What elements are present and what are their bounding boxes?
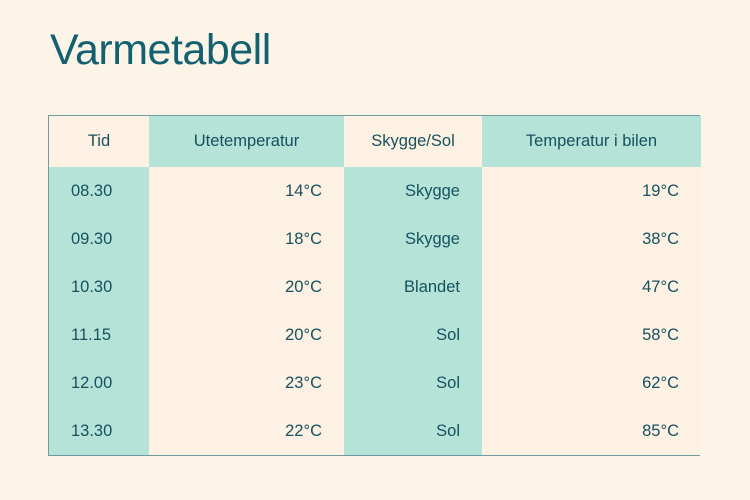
cell-utetemperatur: 20°C: [149, 311, 344, 359]
table-row: 13.3022°CSol85°C: [49, 407, 701, 455]
column-header-temperatur-i-bilen: Temperatur i bilen: [482, 116, 701, 167]
cell-skygge-sol: Sol: [344, 359, 482, 407]
cell-skygge-sol: Skygge: [344, 167, 482, 215]
cell-temperatur-i-bilen: 85°C: [482, 407, 701, 455]
column-header-utetemperatur: Utetemperatur: [149, 116, 344, 167]
table-row: 11.1520°CSol58°C: [49, 311, 701, 359]
cell-tid: 11.15: [49, 311, 149, 359]
table-body: 08.3014°CSkygge19°C09.3018°CSkygge38°C10…: [49, 167, 701, 455]
cell-utetemperatur: 20°C: [149, 263, 344, 311]
cell-tid: 12.00: [49, 359, 149, 407]
cell-tid: 09.30: [49, 215, 149, 263]
table-row: 08.3014°CSkygge19°C: [49, 167, 701, 215]
cell-utetemperatur: 22°C: [149, 407, 344, 455]
cell-skygge-sol: Skygge: [344, 215, 482, 263]
table-header: Tid Utetemperatur Skygge/Sol Temperatur …: [49, 116, 701, 167]
cell-temperatur-i-bilen: 47°C: [482, 263, 701, 311]
cell-tid: 08.30: [49, 167, 149, 215]
cell-utetemperatur: 18°C: [149, 215, 344, 263]
table-row: 10.3020°CBlandet47°C: [49, 263, 701, 311]
cell-skygge-sol: Sol: [344, 407, 482, 455]
table-header-row: Tid Utetemperatur Skygge/Sol Temperatur …: [49, 116, 701, 167]
cell-temperatur-i-bilen: 62°C: [482, 359, 701, 407]
cell-skygge-sol: Sol: [344, 311, 482, 359]
cell-temperatur-i-bilen: 38°C: [482, 215, 701, 263]
cell-temperatur-i-bilen: 19°C: [482, 167, 701, 215]
page-title: Varmetabell: [50, 26, 271, 75]
cell-utetemperatur: 14°C: [149, 167, 344, 215]
cell-tid: 13.30: [49, 407, 149, 455]
heat-table-container: Tid Utetemperatur Skygge/Sol Temperatur …: [48, 115, 700, 456]
page-root: Varmetabell Tid Utetemperatur Skygge/Sol…: [0, 0, 750, 500]
cell-tid: 10.30: [49, 263, 149, 311]
column-header-skygge-sol: Skygge/Sol: [344, 116, 482, 167]
table-row: 09.3018°CSkygge38°C: [49, 215, 701, 263]
cell-temperatur-i-bilen: 58°C: [482, 311, 701, 359]
column-header-tid: Tid: [49, 116, 149, 167]
cell-utetemperatur: 23°C: [149, 359, 344, 407]
heat-table: Tid Utetemperatur Skygge/Sol Temperatur …: [49, 116, 701, 455]
cell-skygge-sol: Blandet: [344, 263, 482, 311]
table-row: 12.0023°CSol62°C: [49, 359, 701, 407]
